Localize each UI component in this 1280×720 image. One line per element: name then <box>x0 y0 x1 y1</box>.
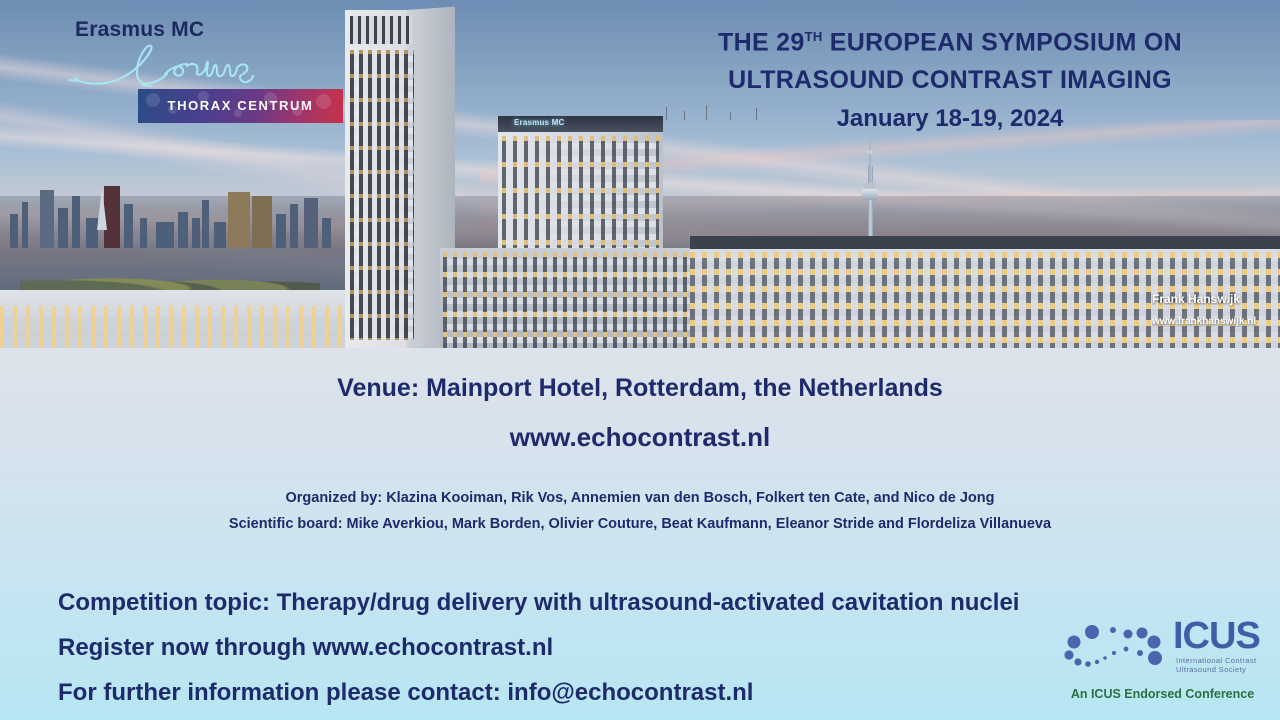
erasmus-mc-rooftop-sign: Erasmus MC <box>514 118 564 127</box>
icus-bubble-swirl-icon <box>1060 620 1168 678</box>
icus-endorsement-label: An ICUS Endorsed Conference <box>1060 687 1265 701</box>
centre-office-block <box>440 248 710 348</box>
white-office-tower <box>345 10 455 348</box>
details-panel: Venue: Mainport Hotel, Rotterdam, the Ne… <box>0 348 1280 720</box>
icus-logo: ICUS International Contrast Ultrasound S… <box>1060 620 1265 678</box>
headline-line-2: ULTRASOUND CONTRAST IMAGING <box>640 61 1260 99</box>
headline-line-1-rest: EUROPEAN SYMPOSIUM ON <box>823 28 1182 56</box>
competition-topic-line: Competition topic: Therapy/drug delivery… <box>58 580 1178 625</box>
headline-line-1: THE 29TH EUROPEAN SYMPOSIUM ON <box>640 18 1260 61</box>
register-line[interactable]: Register now through www.echocontrast.nl <box>58 625 1178 670</box>
photo-credit-website: www.frankhanswijk.nl <box>1152 316 1280 327</box>
venue-line: Venue: Mainport Hotel, Rotterdam, the Ne… <box>0 374 1280 403</box>
icus-tagline-line-2: Ultrasound Society <box>1176 665 1246 674</box>
headline-ordinal-suffix: TH <box>805 29 823 44</box>
event-website[interactable]: www.echocontrast.nl <box>0 422 1280 453</box>
photo-credit-name: Frank Hanswijk <box>1152 292 1280 306</box>
icus-tagline-line-1: International Contrast <box>1176 656 1257 665</box>
headline-dates: January 18-19, 2024 <box>640 101 1260 137</box>
icus-wordmark: ICUS <box>1173 616 1260 656</box>
event-headline: THE 29TH EUROPEAN SYMPOSIUM ON ULTRASOUN… <box>640 18 1260 137</box>
erasmus-mc-logo: Erasmus MC <box>75 18 305 130</box>
distant-skyline <box>0 158 340 248</box>
erasmus-signature-icon <box>55 40 295 90</box>
erasmus-mc-wordmark: Erasmus MC <box>75 18 305 42</box>
thorax-centrum-badge: THORAX CENTRUM <box>138 89 343 123</box>
scientific-board-line: Scientific board: Mike Averkiou, Mark Bo… <box>0 516 1280 532</box>
foreground-left-buildings <box>0 290 350 348</box>
photo-credit: Frank Hanswijk www.frankhanswijk.nl <box>1152 292 1280 327</box>
erasmus-bridge-pylon <box>97 188 107 230</box>
headline-ordinal-pre: THE 29 <box>718 28 805 56</box>
conference-announcement-slide: Erasmus MC Erasmus MC <box>0 0 1280 720</box>
organizers-line: Organized by: Klazina Kooiman, Rik Vos, … <box>0 490 1280 506</box>
contact-line[interactable]: For further information please contact: … <box>58 670 1178 715</box>
thorax-centrum-label: THORAX CENTRUM <box>138 89 343 123</box>
rotterdam-skyline-photo: Erasmus MC Erasmus MC <box>0 0 1280 348</box>
call-to-action-block: Competition topic: Therapy/drug delivery… <box>58 580 1178 715</box>
